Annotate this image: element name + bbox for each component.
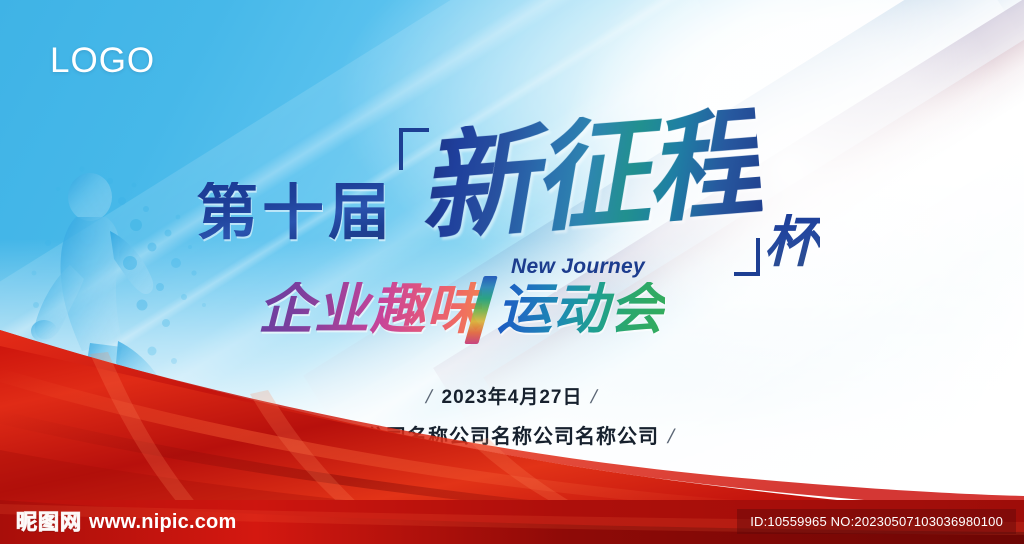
quote-close-bracket-icon — [734, 238, 760, 276]
asset-id-badge: ID:10559965 NO:20230507103036980100 — [737, 509, 1016, 534]
title-english-subtitle: New Journey — [511, 256, 645, 277]
title-calligraphy: 新征程 — [413, 103, 763, 247]
nipic-logo[interactable]: 昵图网 www.nipic.com — [16, 512, 236, 533]
nipic-url: www.nipic.com — [89, 512, 236, 532]
poster-canvas: LOGO 第十届 新征程 New Journey 杯 企业趣味 运动会 /202… — [0, 0, 1024, 544]
logo-text[interactable]: LOGO — [50, 43, 155, 78]
title-suffix: 杯 — [764, 214, 820, 270]
title-prefix: 第十届 — [196, 182, 394, 244]
footer-bar: 昵图网 www.nipic.com ID:10559965 NO:2023050… — [0, 500, 1024, 544]
nipic-name-cn: 昵图网 — [16, 512, 82, 533]
